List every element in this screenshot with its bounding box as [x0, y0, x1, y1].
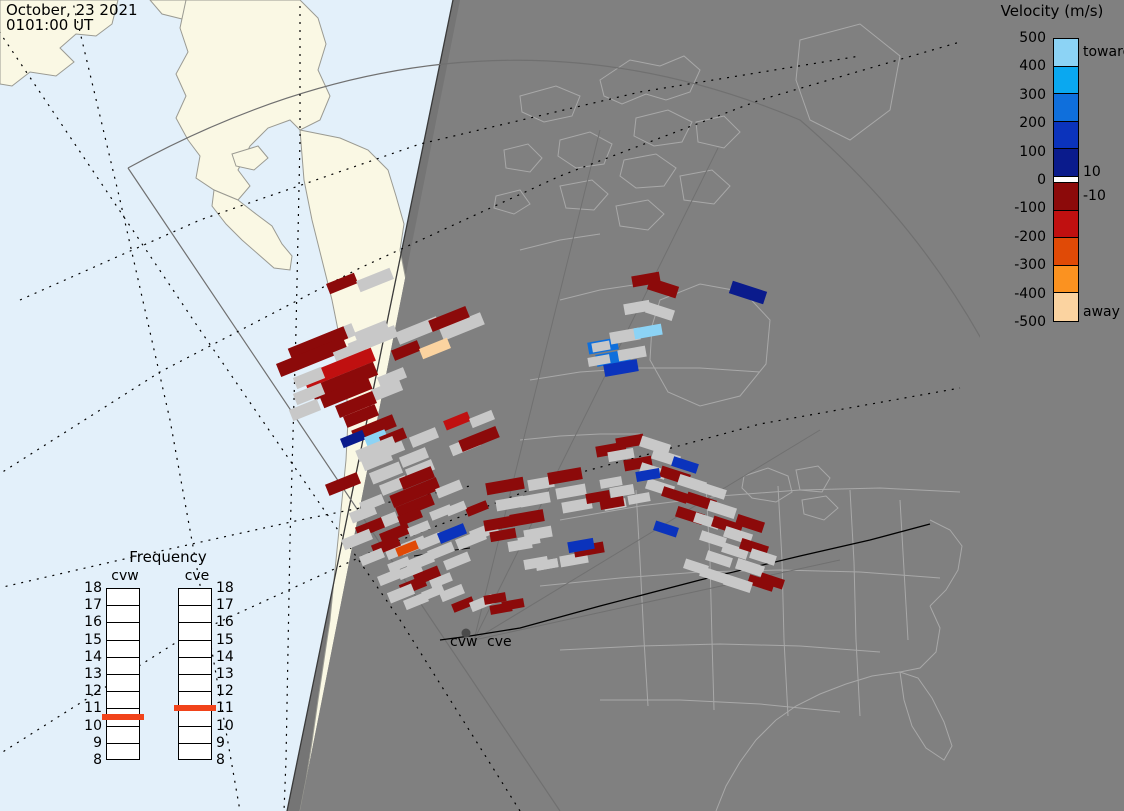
frequency-segment [179, 606, 211, 623]
frequency-scale-label: 15 [216, 632, 240, 648]
colorbar-tick-label: -300 [1014, 257, 1046, 273]
frequency-radar-name-cve: cve [174, 568, 220, 584]
colorbar-swatch [1054, 149, 1078, 177]
frequency-scale-label: 10 [216, 718, 240, 734]
frequency-scale-label: 14 [78, 649, 102, 665]
frequency-segment [179, 589, 211, 606]
frequency-scale-label: 9 [216, 735, 240, 751]
colorbar-tick-label: 0 [1037, 172, 1046, 188]
frequency-legend: Frequency cvw cve 1818171716161515141413… [88, 548, 248, 778]
frequency-scale-label: 12 [78, 683, 102, 699]
frequency-scale-label: 8 [78, 752, 102, 768]
colorbar-tick-label: -400 [1014, 286, 1046, 302]
frequency-segment [179, 641, 211, 658]
frequency-segment [107, 606, 139, 623]
colorbar-panel: Velocity (m/s) 5004003002001000-100-200-… [980, 0, 1124, 811]
colorbar-swatch [1054, 211, 1078, 239]
colorbar-tick-label: 300 [1019, 87, 1046, 103]
frequency-segment [107, 589, 139, 606]
frequency-scale-label: 10 [78, 718, 102, 734]
colorbar-swatch [1054, 122, 1078, 150]
station-label-cve: cve [487, 634, 512, 650]
frequency-radar-name-cvw: cvw [102, 568, 148, 584]
frequency-bar-cvw[interactable] [106, 588, 140, 760]
frequency-scale-label: 18 [216, 580, 240, 596]
colorbar-tick-label: 400 [1019, 58, 1046, 74]
frequency-scale-label: 9 [78, 735, 102, 751]
colorbar-swatch [1054, 39, 1078, 67]
colorbar-tick-label: -500 [1014, 314, 1046, 330]
superdarn-plot: October, 23 2021 0101:00 UT cvw cve Freq… [0, 0, 1124, 811]
colorbar-swatch [1054, 67, 1078, 95]
frequency-segment [179, 675, 211, 692]
frequency-scale-label: 13 [78, 666, 102, 682]
colorbar-swatch [1054, 238, 1078, 266]
frequency-scale-label: 16 [78, 614, 102, 630]
frequency-segment [107, 727, 139, 744]
frequency-segment [107, 658, 139, 675]
frequency-indicator-cve [174, 705, 216, 711]
frequency-segment [107, 744, 139, 761]
colorbar-tick-label: -200 [1014, 229, 1046, 245]
plot-time: 0101:00 UT [6, 18, 93, 33]
colorbar-inner-low-label: -10 [1083, 188, 1106, 204]
colorbar-tick-label: 100 [1019, 144, 1046, 160]
frequency-scale-label: 11 [78, 700, 102, 716]
frequency-scale-label: 15 [78, 632, 102, 648]
map-panel[interactable]: October, 23 2021 0101:00 UT cvw cve Freq… [0, 0, 980, 811]
station-label-cvw: cvw [450, 634, 477, 650]
frequency-segment [107, 692, 139, 709]
colorbar-away-label: away [1083, 304, 1120, 320]
frequency-scale-label: 13 [216, 666, 240, 682]
colorbar-tick-label: 200 [1019, 115, 1046, 131]
frequency-segment [107, 623, 139, 640]
frequency-segment [179, 623, 211, 640]
frequency-scale-label: 12 [216, 683, 240, 699]
frequency-segment [179, 727, 211, 744]
frequency-scale-label: 14 [216, 649, 240, 665]
colorbar-gradient[interactable] [1053, 38, 1079, 322]
colorbar-title: Velocity (m/s) [980, 2, 1124, 20]
colorbar-swatch [1054, 293, 1078, 321]
colorbar-tick-label: 500 [1019, 30, 1046, 46]
frequency-scale-label: 11 [216, 700, 240, 716]
frequency-segment [107, 675, 139, 692]
frequency-scale-label: 17 [78, 597, 102, 613]
colorbar-swatch [1054, 266, 1078, 294]
frequency-title: Frequency [88, 548, 248, 566]
frequency-scale-label: 8 [216, 752, 240, 768]
frequency-scale-label: 16 [216, 614, 240, 630]
colorbar-swatch [1054, 183, 1078, 211]
frequency-bar-cve[interactable] [178, 588, 212, 760]
frequency-scale-label: 18 [78, 580, 102, 596]
colorbar-swatch [1054, 94, 1078, 122]
colorbar-inner-high-label: 10 [1083, 164, 1101, 180]
frequency-segment [179, 658, 211, 675]
frequency-segment [179, 744, 211, 761]
frequency-scale-label: 17 [216, 597, 240, 613]
colorbar-tick-label: -100 [1014, 200, 1046, 216]
frequency-indicator-cvw [102, 714, 144, 720]
frequency-segment [179, 709, 211, 726]
colorbar-toward-label: toward [1083, 44, 1124, 60]
frequency-segment [107, 641, 139, 658]
